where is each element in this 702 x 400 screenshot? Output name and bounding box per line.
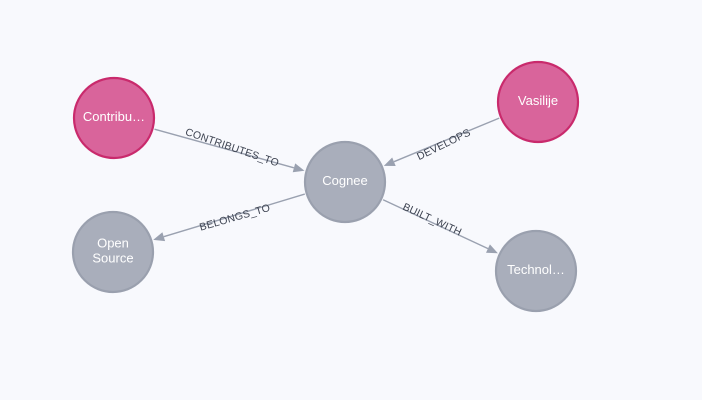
- edge-label-belongs_to: BELONGS_TO: [198, 202, 271, 234]
- node-label-technology: Technol…: [507, 262, 565, 277]
- edge-label-contributes_to: CONTRIBUTES_TO: [184, 126, 281, 169]
- graph-canvas[interactable]: CONTRIBUTES_TODEVELOPSBELONGS_TOBUILT_WI…: [0, 0, 702, 400]
- edge-arrowhead-contributes_to: [293, 163, 305, 172]
- nodes-layer: Contribu…VasilijeCogneeOpenSourceTechnol…: [73, 62, 578, 311]
- graph-node-contributor[interactable]: Contribu…: [74, 78, 154, 158]
- graph-node-open_source[interactable]: OpenSource: [73, 212, 153, 292]
- edge-label-built_with: BUILT_WITH: [401, 201, 464, 239]
- edge-label-develops: DEVELOPS: [415, 127, 473, 163]
- node-label-contributor: Contribu…: [83, 109, 145, 124]
- graph-visualization[interactable]: CONTRIBUTES_TODEVELOPSBELONGS_TOBUILT_WI…: [0, 0, 702, 400]
- node-label-vasilije: Vasilije: [518, 93, 558, 108]
- graph-node-technology[interactable]: Technol…: [496, 231, 576, 311]
- graph-node-cognee[interactable]: Cognee: [305, 142, 385, 222]
- node-label-open_source: OpenSource: [92, 236, 133, 266]
- graph-node-vasilije[interactable]: Vasilije: [498, 62, 578, 142]
- edge-arrowhead-develops: [384, 158, 396, 167]
- edge-arrowhead-belongs_to: [153, 232, 165, 241]
- node-label-cognee: Cognee: [322, 173, 368, 188]
